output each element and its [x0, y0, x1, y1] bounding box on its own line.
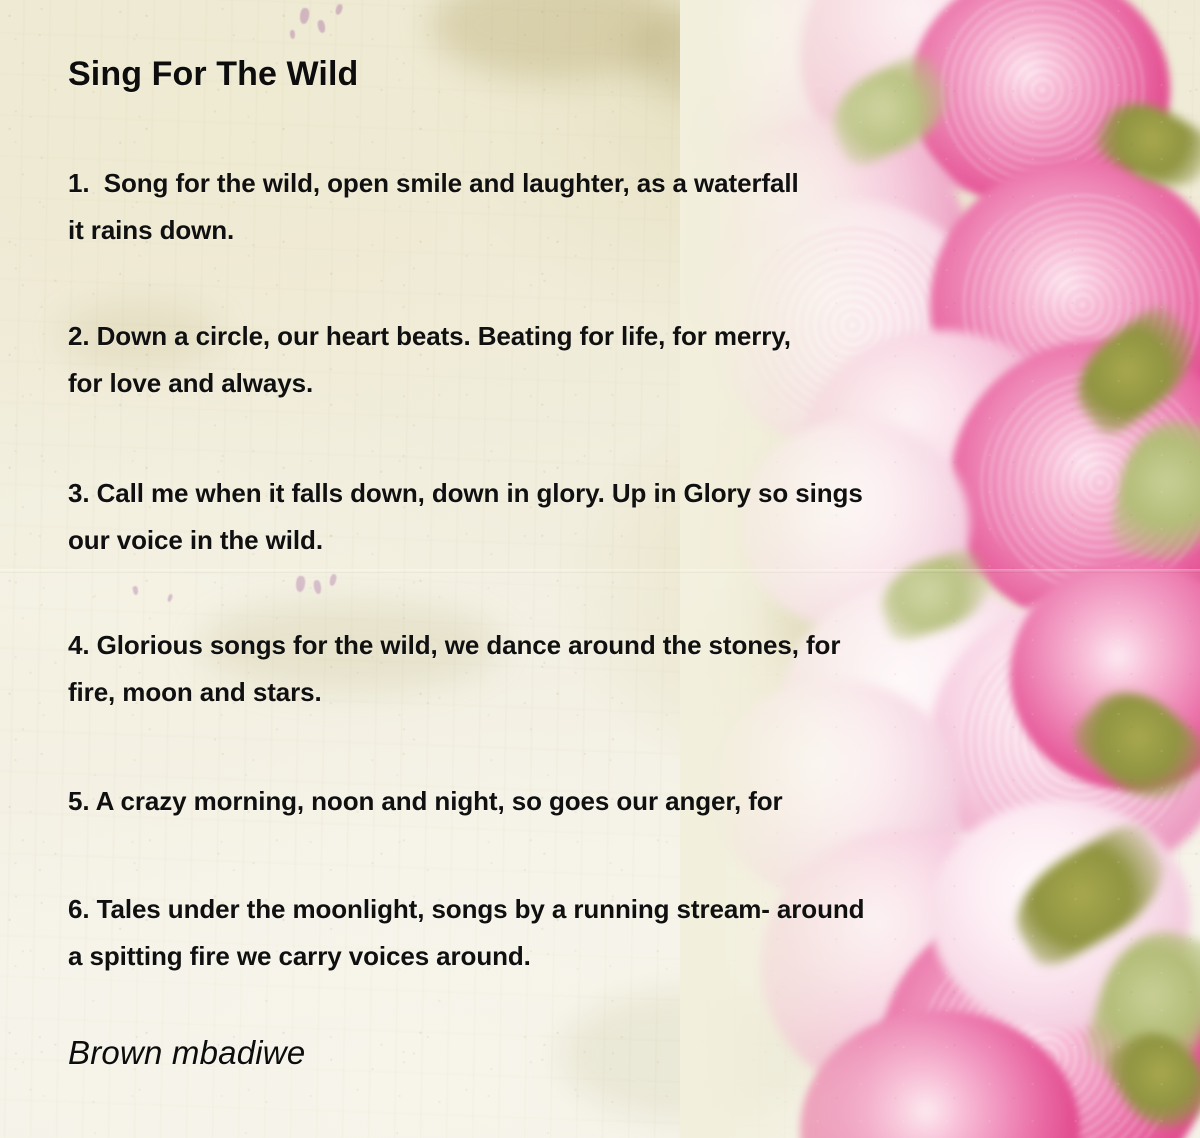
poem-image-canvas: Sing For The Wild 1. Song for the wild, …: [0, 0, 1200, 1138]
poem-line: fire, moon and stars.: [68, 669, 1128, 716]
poem-stanza-2: 2. Down a circle, our heart beats. Beati…: [68, 313, 1128, 407]
poem-text-layer: Sing For The Wild 1. Song for the wild, …: [0, 0, 1200, 1138]
poem-stanza-5: 5. A crazy morning, noon and night, so g…: [68, 778, 1128, 825]
poem-title: Sing For The Wild: [68, 55, 358, 94]
poem-line: 2. Down a circle, our heart beats. Beati…: [68, 313, 1128, 360]
poem-line: 6. Tales under the moonlight, songs by a…: [68, 886, 1128, 933]
poem-line: it rains down.: [68, 207, 1128, 254]
poem-line: our voice in the wild.: [68, 517, 1128, 564]
poem-stanza-1: 1. Song for the wild, open smile and lau…: [68, 160, 1128, 254]
poem-author-signature: Brown mbadiwe: [68, 1034, 305, 1072]
poem-line: a spitting fire we carry voices around.: [68, 933, 1128, 980]
poem-line: 5. A crazy morning, noon and night, so g…: [68, 778, 1128, 825]
poem-line: 3. Call me when it falls down, down in g…: [68, 470, 1128, 517]
poem-stanza-4: 4. Glorious songs for the wild, we dance…: [68, 622, 1128, 716]
poem-line: 1. Song for the wild, open smile and lau…: [68, 160, 1128, 207]
poem-stanza-3: 3. Call me when it falls down, down in g…: [68, 470, 1128, 564]
poem-line: 4. Glorious songs for the wild, we dance…: [68, 622, 1128, 669]
poem-line: for love and always.: [68, 360, 1128, 407]
poem-stanza-6: 6. Tales under the moonlight, songs by a…: [68, 886, 1128, 980]
